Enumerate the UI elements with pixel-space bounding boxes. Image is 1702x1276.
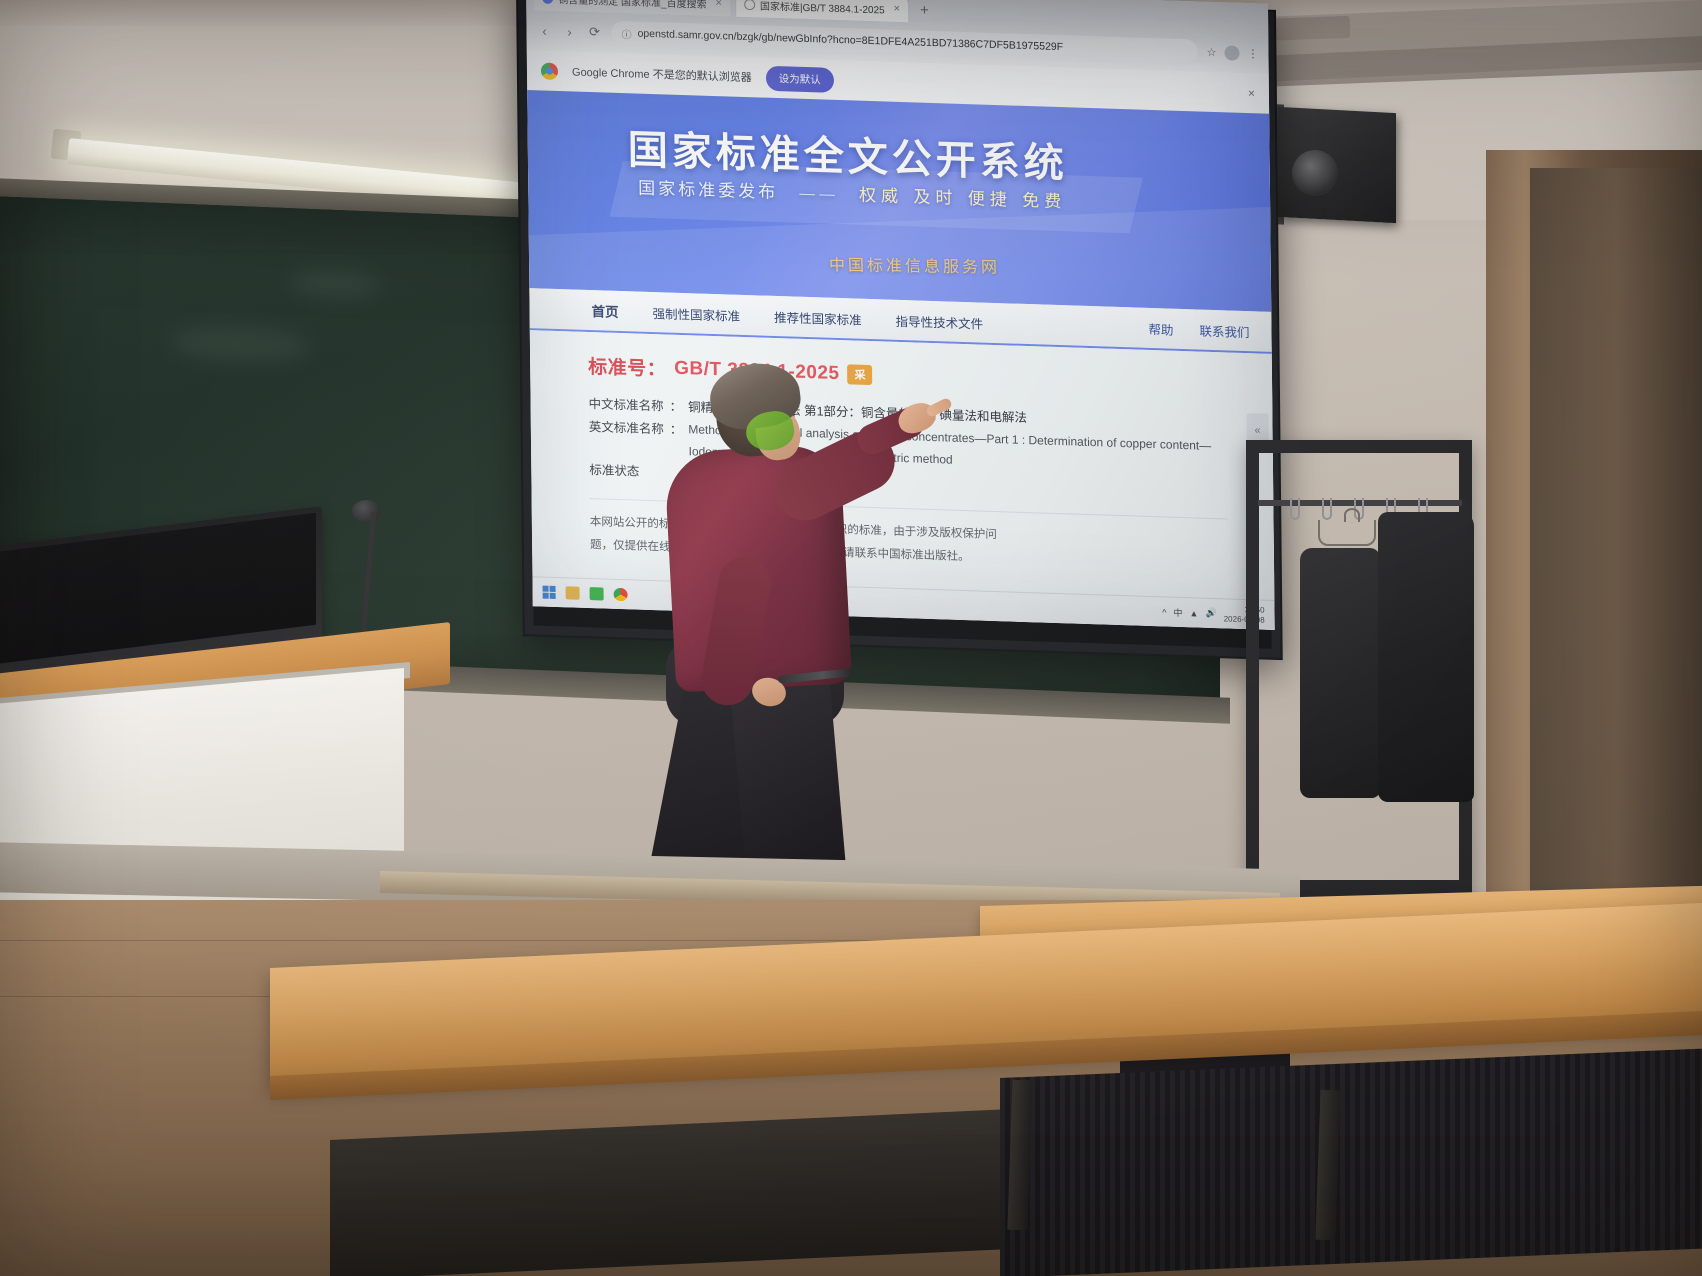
nav-item-mandatory-standards[interactable]: 强制性国家标准 <box>652 303 740 325</box>
nav-item-contact[interactable]: 联系我们 <box>1199 320 1249 341</box>
classroom-photo: 铜含量的测定 国家标准_百度搜索 × 国家标准|GB/T 3884.1-2025… <box>0 0 1702 1276</box>
infobar-message: Google Chrome 不是您的默认浏览器 <box>572 63 752 85</box>
info-icon: ⓘ <box>621 26 631 41</box>
nav-secondary-group: 帮助 联系我们 <box>1148 318 1271 341</box>
set-default-button[interactable]: 设为默认 <box>766 65 834 92</box>
menu-icon[interactable]: ⋮ <box>1247 47 1258 60</box>
site-hero-banner: 国家标准全文公开系统 国家标准委发布 —— 权威 及时 便捷 免费 中国标准信息… <box>527 90 1271 312</box>
speaker-cone-icon <box>1292 150 1338 196</box>
hero-gold-seal: 中国标准信息服务网 <box>829 251 1001 277</box>
windows-icon[interactable] <box>543 586 556 599</box>
baidu-icon <box>542 0 553 3</box>
profile-avatar[interactable] <box>1224 45 1239 60</box>
clothes-hanger-icon[interactable] <box>1318 520 1376 546</box>
close-icon[interactable]: × <box>894 3 901 15</box>
reload-icon[interactable]: ⟳ <box>586 24 602 41</box>
input-method-icon[interactable]: 中 <box>1173 606 1182 619</box>
url-text: openstd.samr.gov.cn/bzgk/gb/newGbInfo?hc… <box>637 28 1063 54</box>
door[interactable] <box>1530 168 1702 928</box>
hero-dash: —— <box>799 184 839 205</box>
nav-item-home[interactable]: 首页 <box>591 300 618 321</box>
gov-icon <box>744 0 755 10</box>
forward-icon[interactable]: › <box>561 24 577 40</box>
tab-title: 铜含量的测定 国家标准_百度搜索 <box>558 0 706 10</box>
back-icon[interactable]: ‹ <box>536 23 552 39</box>
chrome-icon <box>541 62 558 80</box>
new-tab-button[interactable]: + <box>914 1 935 19</box>
chevron-up-icon[interactable]: ^ <box>1162 607 1166 617</box>
star-icon[interactable]: ☆ <box>1207 45 1217 58</box>
wifi-icon[interactable]: ▲ <box>1189 608 1198 618</box>
nav-item-recommended-standards[interactable]: 推荐性国家标准 <box>774 306 862 328</box>
hanging-coat <box>1378 512 1474 802</box>
desk-modesty-panel-right <box>1000 1047 1702 1276</box>
nav-item-help[interactable]: 帮助 <box>1148 318 1173 338</box>
microphone-head-icon <box>352 500 380 522</box>
coat-hook-icon[interactable] <box>1322 498 1332 520</box>
chrome-toolbar-right: ☆ ⋮ <box>1207 44 1259 61</box>
hanging-garment-secondary <box>1300 548 1380 798</box>
coat-hook-icon[interactable] <box>1290 498 1300 520</box>
volume-icon[interactable]: 🔊 <box>1205 608 1216 619</box>
tab-title: 国家标准|GB/T 3884.1-2025 <box>760 0 885 16</box>
close-icon[interactable]: × <box>1248 86 1255 100</box>
close-icon[interactable]: × <box>715 0 722 9</box>
nav-item-guiding-documents[interactable]: 指导性技术文件 <box>895 310 983 332</box>
